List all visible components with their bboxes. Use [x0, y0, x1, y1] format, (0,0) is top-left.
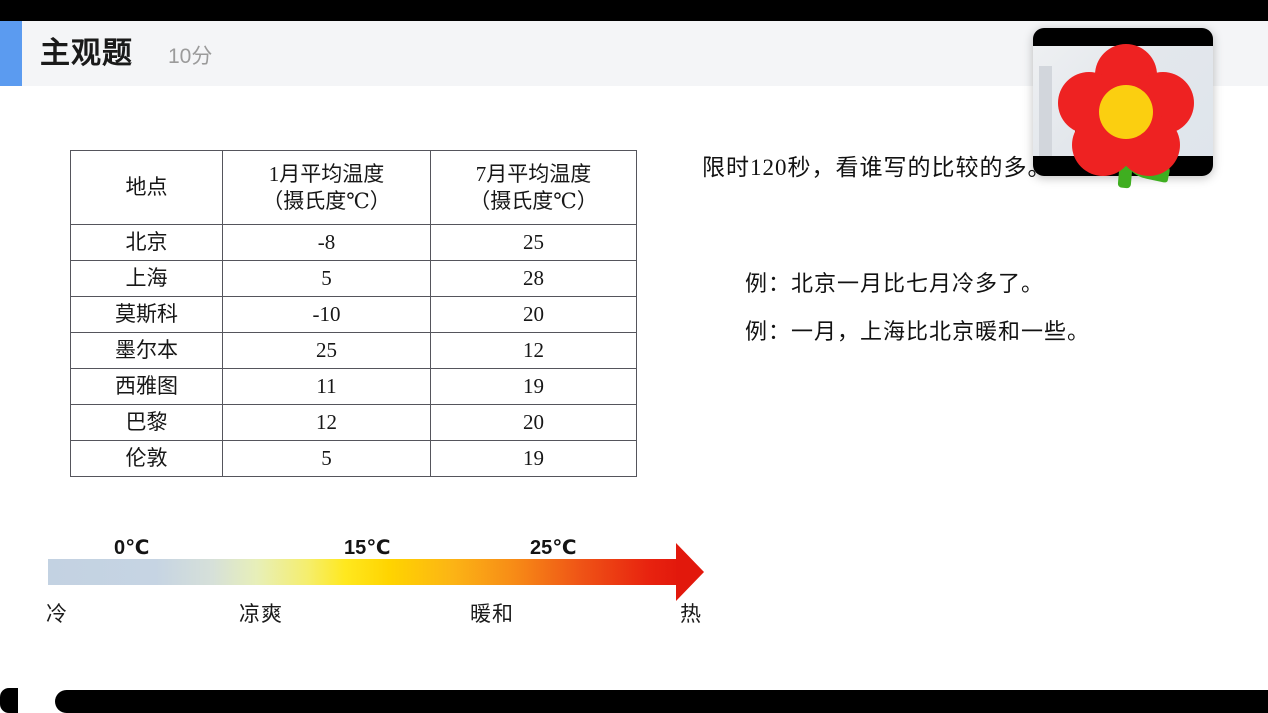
cell-jan: 11	[223, 369, 431, 405]
table-row: 伦敦 5 19	[71, 441, 637, 477]
scale-label-cool: 凉爽	[239, 601, 283, 627]
table-row: 北京 -8 25	[71, 225, 637, 261]
arrow-head-icon	[676, 543, 704, 601]
table-row: 上海 5 28	[71, 261, 637, 297]
scale-tick-25: 25℃	[530, 536, 576, 560]
cell-place: 墨尔本	[71, 333, 223, 369]
column-header-july-line2: （摄氏度℃）	[431, 188, 636, 215]
temperature-gradient-bar	[48, 559, 680, 585]
cell-jul: 12	[431, 333, 637, 369]
table-row: 莫斯科 -10 20	[71, 297, 637, 333]
cell-jan: 12	[223, 405, 431, 441]
bottom-bar-left-nub	[0, 688, 18, 713]
example-line-2: 例：一月，上海比北京暖和一些。	[745, 308, 1245, 356]
cell-place: 伦敦	[71, 441, 223, 477]
cell-jan: 25	[223, 333, 431, 369]
example-line-1: 例：北京一月比七月冷多了。	[745, 260, 1245, 308]
cell-jul: 20	[431, 405, 637, 441]
scale-tick-0: 0℃	[114, 536, 149, 560]
page-title: 主观题	[40, 36, 133, 72]
table-row: 墨尔本 25 12	[71, 333, 637, 369]
column-header-place-line1: 地点	[71, 174, 222, 201]
table-header-row: 地点 1月平均温度 （摄氏度℃） 7月平均温度 （摄氏度℃）	[71, 151, 637, 225]
cell-jan: -10	[223, 297, 431, 333]
cell-jul: 28	[431, 261, 637, 297]
column-header-july-line1: 7月平均温度	[431, 161, 636, 188]
column-header-january: 1月平均温度 （摄氏度℃）	[223, 151, 431, 225]
flower-sticker-icon	[1056, 44, 1196, 174]
scale-tick-15: 15℃	[344, 536, 390, 560]
flower-center	[1099, 85, 1153, 139]
cell-jan: 5	[223, 261, 431, 297]
question-score-label: 10分	[168, 44, 212, 70]
table-row: 西雅图 11 19	[71, 369, 637, 405]
cell-jan: -8	[223, 225, 431, 261]
table-row: 巴黎 12 20	[71, 405, 637, 441]
cell-place: 上海	[71, 261, 223, 297]
cell-jul: 20	[431, 297, 637, 333]
cell-place: 莫斯科	[71, 297, 223, 333]
column-header-place: 地点	[71, 151, 223, 225]
cell-place: 北京	[71, 225, 223, 261]
cell-jul: 19	[431, 441, 637, 477]
column-header-july: 7月平均温度 （摄氏度℃）	[431, 151, 637, 225]
prompt-examples: 例：北京一月比七月冷多了。 例：一月，上海比北京暖和一些。	[745, 260, 1245, 356]
cell-place: 巴黎	[71, 405, 223, 441]
cell-jan: 5	[223, 441, 431, 477]
bottom-letterbox-bar	[55, 690, 1268, 713]
cell-jul: 25	[431, 225, 637, 261]
column-header-january-line1: 1月平均温度	[223, 161, 430, 188]
column-header-january-line2: （摄氏度℃）	[223, 188, 430, 215]
scale-label-warm: 暖和	[470, 601, 514, 627]
scale-label-cold: 冷	[46, 601, 68, 627]
webcam-background-wall	[1039, 66, 1052, 156]
scale-label-hot: 热	[680, 601, 702, 627]
temperature-table: 地点 1月平均温度 （摄氏度℃） 7月平均温度 （摄氏度℃） 北京 -8 25 …	[70, 150, 637, 477]
top-letterbox-bar	[0, 0, 1268, 21]
header-accent-bar	[0, 21, 22, 86]
cell-jul: 19	[431, 369, 637, 405]
cell-place: 西雅图	[71, 369, 223, 405]
